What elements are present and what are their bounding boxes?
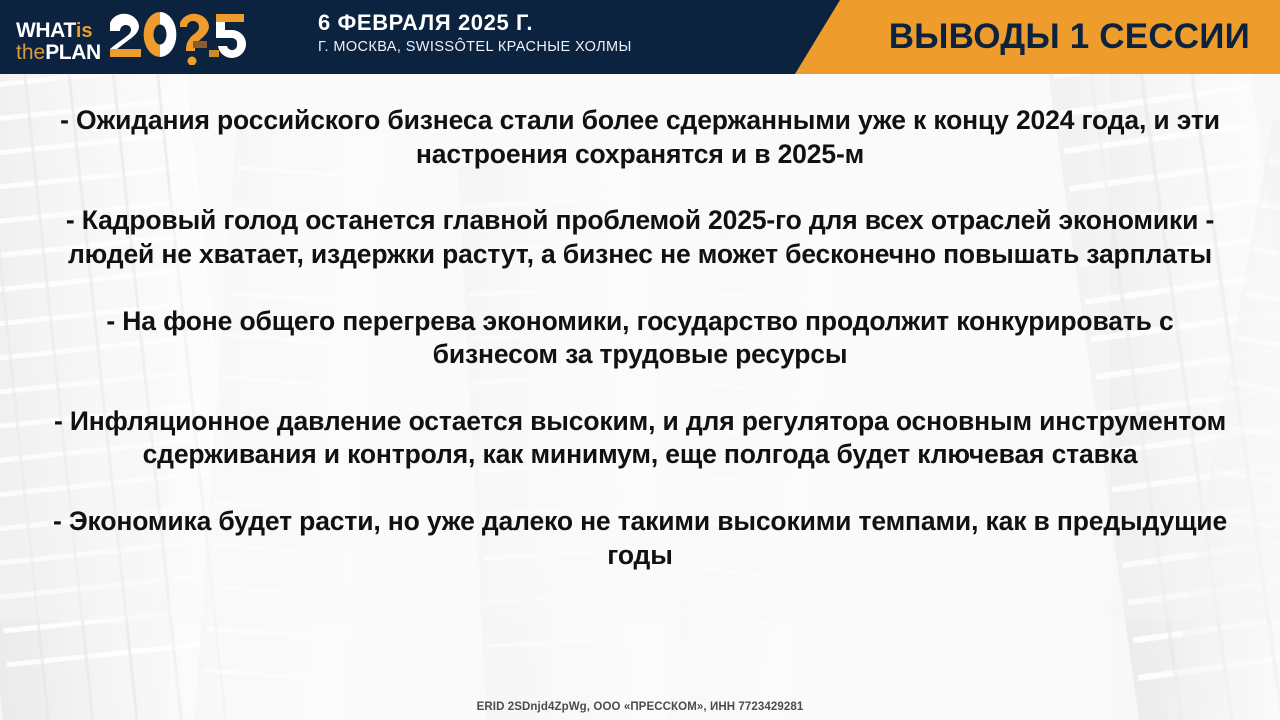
brand-logo-line2: thePLAN [16, 42, 101, 63]
conclusions-list: - Ожидания российского бизнеса стали бол… [0, 74, 1280, 694]
conclusion-bullet-1: - Ожидания российского бизнеса стали бол… [46, 104, 1234, 171]
brand-logo-line1: WHATis [16, 20, 101, 41]
session-title: ВЫВОДЫ 1 СЕССИИ [889, 0, 1250, 74]
conclusion-bullet-2: - Кадровый голод останется главной пробл… [46, 204, 1234, 271]
event-date: 6 ФЕВРАЛЯ 2025 Г. [318, 10, 632, 36]
brand-logo-the: the [16, 41, 45, 64]
event-details: 6 ФЕВРАЛЯ 2025 Г. Г. МОСКВА, SWISSÔTEL К… [318, 10, 632, 56]
conclusion-bullet-3: - На фоне общего перегрева экономики, го… [46, 305, 1234, 372]
brand-logo-year-2025 [108, 9, 248, 65]
brand-logo-is: is [76, 20, 93, 42]
event-location: Г. МОСКВА, SWISSÔTEL КРАСНЫЕ ХОЛМЫ [318, 39, 632, 56]
header-bar: WHATis thePLAN [0, 0, 1280, 74]
slide-root: WHATis thePLAN [0, 0, 1280, 720]
conclusion-bullet-4: - Инфляционное давление остается высоким… [46, 405, 1234, 472]
brand-logo-wordmark: WHATis thePLAN [16, 20, 101, 65]
year-2025-graphic [108, 9, 248, 65]
conclusion-bullet-5: - Экономика будет расти, но уже далеко н… [46, 505, 1234, 572]
footer-legal-notice: ERID 2SDnjd4ZpWg, ООО «ПРЕССКОМ», ИНН 77… [0, 701, 1280, 713]
brand-logo[interactable]: WHATis thePLAN [16, 9, 248, 65]
brand-logo-what: WHAT [16, 19, 76, 42]
brand-logo-plan: PLAN [45, 41, 101, 64]
